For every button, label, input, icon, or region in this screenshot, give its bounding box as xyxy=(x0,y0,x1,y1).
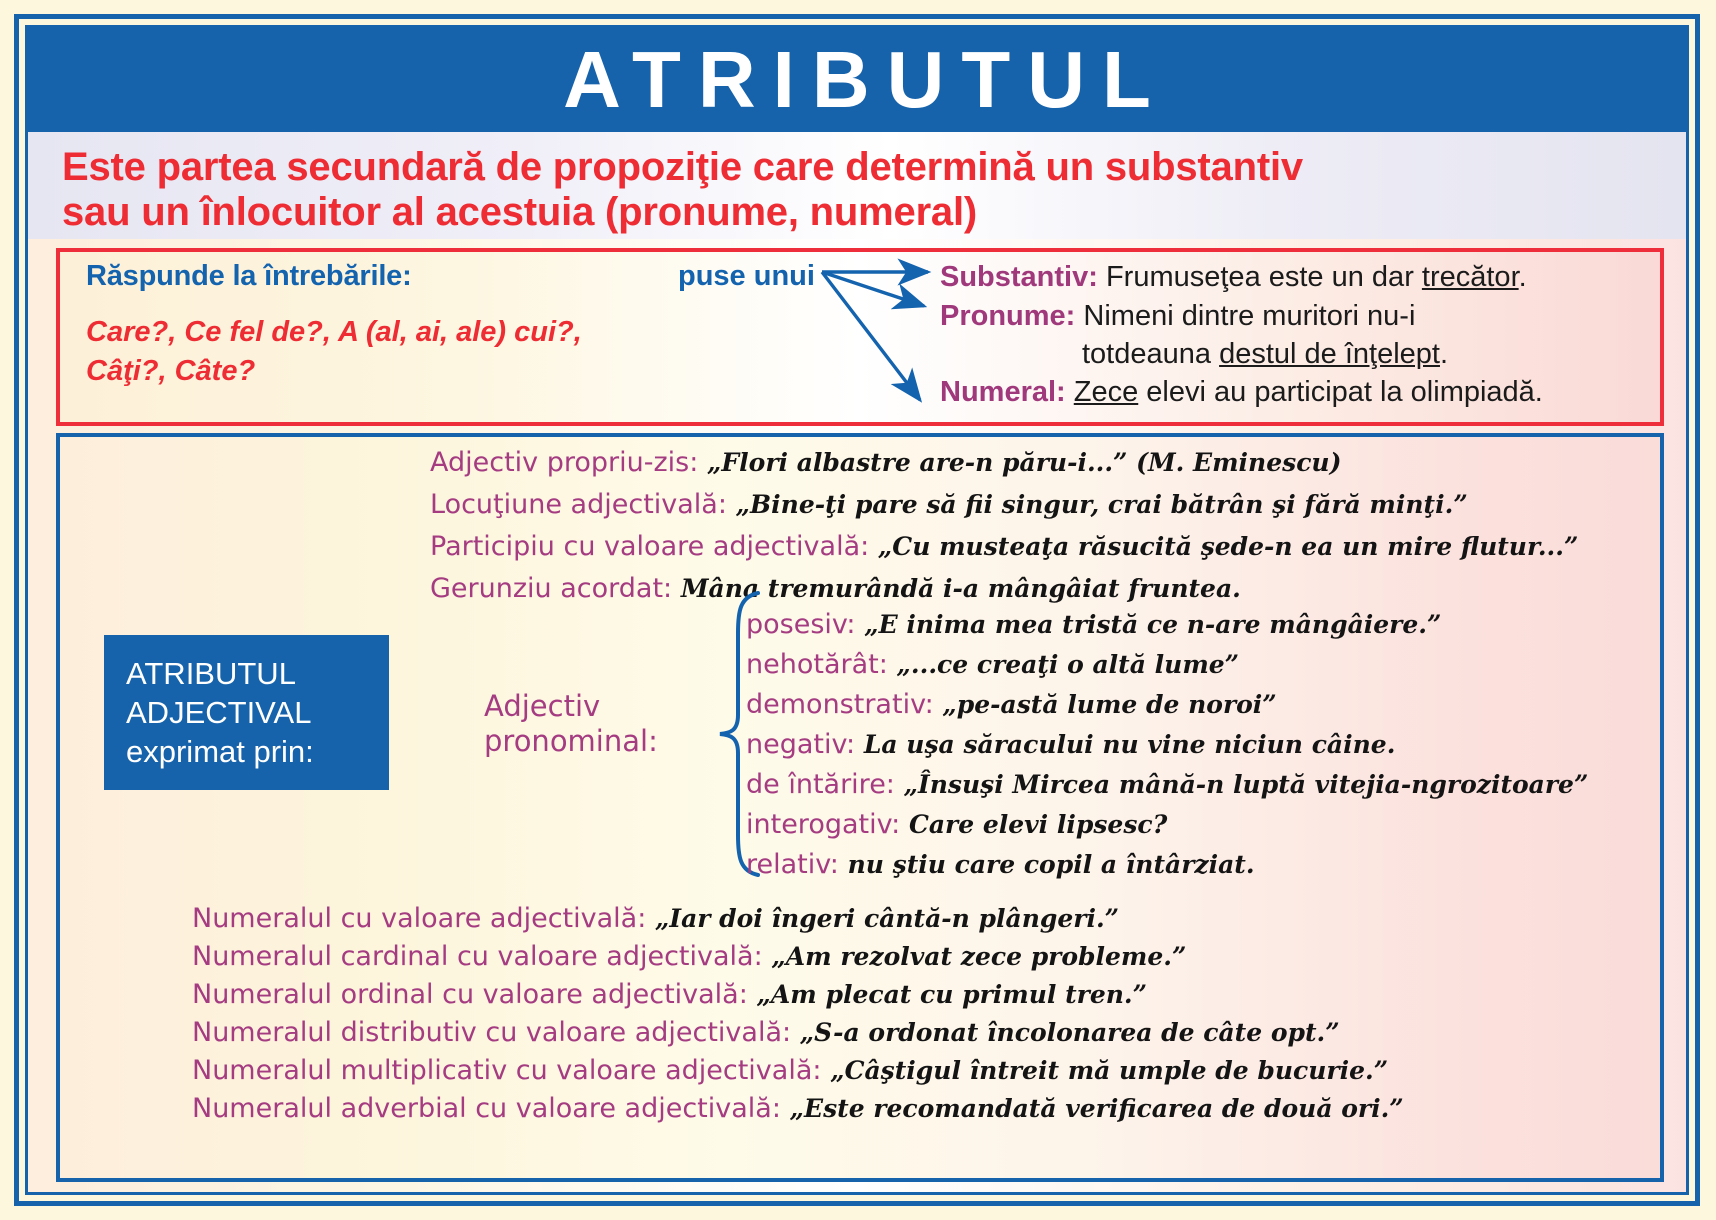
row-numeral-distributiv-ex-before: „S-a ordonat încolonarea xyxy=(791,1018,1161,1047)
questions-box: Răspunde la întrebările: Care?, Ce fel d… xyxy=(56,248,1664,426)
row-numeral-ex-underlined: doi xyxy=(719,904,763,933)
example-numeral-label: Numeral: xyxy=(940,376,1066,408)
row-adjectiv-propriu-zis-category: Adjectiv propriu-zis: xyxy=(430,447,698,478)
row-adjectiv-propriu-zis-ex-after: are-n păru-i...” (M. Eminescu) xyxy=(911,448,1342,477)
example-pronume-line2-underlined: destul de înţelept xyxy=(1219,338,1440,370)
row-numeral-adverbial-ex-before: „Este recomandată verificarea xyxy=(781,1094,1222,1123)
arrow-to-pronume xyxy=(822,272,924,306)
example-substantiv-before: Frumuseţea este un dar xyxy=(1098,261,1422,293)
example-pronume-label: Pronume: xyxy=(940,300,1075,332)
row-locutiune-adjectivala-ex-underlined: fără minţi. xyxy=(1304,490,1453,519)
row-de-intarire-ex-before: „ xyxy=(895,770,918,799)
row-negativ-category: negativ: xyxy=(746,729,855,760)
row-numeral-distributiv: Numeralul distributiv cu valoare adjecti… xyxy=(192,1017,1340,1048)
row-locutiune-adjectivala-ex-after: ” xyxy=(1453,490,1467,519)
row-locutiune-adjectivala-category: Locuţiune adjectivală: xyxy=(430,489,727,520)
row-gerunziu-ex-after: i-a mângâiat fruntea. xyxy=(934,574,1241,603)
example-substantiv-after: . xyxy=(1519,261,1527,293)
example-substantiv-underlined: trecător xyxy=(1422,261,1519,293)
row-numeral-adverbial-ex-after: .” xyxy=(1381,1094,1404,1123)
row-numeral-cardinal-ex-after: probleme.” xyxy=(1022,942,1186,971)
page-title: ATRIBUTUL xyxy=(546,40,1168,120)
questions-left-column: Răspunde la întrebările: Care?, Ce fel d… xyxy=(86,260,706,390)
questions-list: Care?, Ce fel de?, A (al, ai, ale) cui?,… xyxy=(86,313,706,390)
row-interogativ-ex-underlined: Care xyxy=(909,810,974,839)
row-demonstrativ-ex-after: lume de noroi” xyxy=(1059,690,1277,719)
row-posesiv-ex-underlined: mea xyxy=(995,610,1054,639)
row-nehotarat-ex-before: „...ce creaţi o xyxy=(888,650,1093,679)
row-negativ-ex-underlined: niciun xyxy=(1214,730,1303,759)
definition-line-2: sau un înlocuitor al acestuia (pronume, … xyxy=(62,190,1662,235)
row-numeral-multiplicativ-category: Numeralul multiplicativ cu valoare adjec… xyxy=(192,1055,821,1086)
key-box-line-2: ADJECTIVAL xyxy=(126,694,389,733)
row-demonstrativ-category: demonstrativ: xyxy=(746,689,934,720)
example-pronume-line2: totdeauna destul de înţelept. xyxy=(940,335,1650,373)
row-numeral-valoare-adjectivala: Numeralul cu valoare adjectivală: „Iar d… xyxy=(192,903,1119,934)
row-participiu-ex-before: „Cu musteaţa xyxy=(869,532,1078,561)
row-numeral-ex-before: „Iar xyxy=(646,904,719,933)
row-demonstrativ: demonstrativ: „pe-astă lume de noroi” xyxy=(746,689,1277,720)
row-numeral-cardinal: Numeralul cardinal cu valoare adjectival… xyxy=(192,941,1186,972)
row-nehotarat-category: nehotărât: xyxy=(746,649,888,680)
key-box-atributul-adjectival: ATRIBUTUL ADJECTIVAL exprimat prin: xyxy=(104,635,389,790)
adjectiv-pronominal-line-1: Adjectiv xyxy=(484,689,658,724)
row-gerunziu-ex-underlined: tremurândă xyxy=(768,574,934,603)
row-numeral-adverbial-category: Numeralul adverbial cu valoare adjectiva… xyxy=(192,1093,781,1124)
example-pronume: Pronume: Nimeni dintre muritori nu-i xyxy=(940,297,1650,335)
row-gerunziu-category: Gerunziu acordat: xyxy=(430,573,672,604)
row-de-intarire: de întărire: „Însuşi Mircea mână-n luptă… xyxy=(746,769,1588,800)
row-numeral-ex-after: îngeri cântă-n plângeri.” xyxy=(763,904,1119,933)
example-numeral-before xyxy=(1066,376,1074,408)
row-locutiune-adjectivala: Locuţiune adjectivală: „Bine-ţi pare să … xyxy=(430,489,1468,520)
definition-line-1: Este partea secundară de propoziţie care… xyxy=(62,145,1662,190)
row-numeral-distributiv-category: Numeralul distributiv cu valoare adjecti… xyxy=(192,1017,791,1048)
row-negativ-ex-after: câine. xyxy=(1303,730,1395,759)
row-participiu-category: Participiu cu valoare adjectivală: xyxy=(430,531,869,562)
puse-unui-label: puse unui xyxy=(678,260,815,293)
main-content-box: Adjectiv propriu-zis: „Flori albastre ar… xyxy=(56,433,1664,1182)
example-pronume-before: Nimeni dintre muritori nu-i xyxy=(1075,300,1415,332)
example-pronume-line2-after: . xyxy=(1440,338,1448,370)
example-substantiv-label: Substantiv: xyxy=(940,261,1098,293)
row-de-intarire-ex-after: Mircea mână-n luptă vitejia-ngrozitoare” xyxy=(1004,770,1589,799)
row-numeral-multiplicativ: Numeralul multiplicativ cu valoare adjec… xyxy=(192,1055,1388,1086)
poster-inner-frame: ATRIBUTUL Este partea secundară de propo… xyxy=(25,25,1689,1195)
row-interogativ-ex-after: elevi lipsesc? xyxy=(974,810,1167,839)
poster-frame: ATRIBUTUL Este partea secundară de propo… xyxy=(14,14,1700,1206)
key-box-line-3: exprimat prin: xyxy=(126,733,389,772)
row-numeral-adverbial-ex-underlined: de două ori xyxy=(1222,1094,1381,1123)
row-numeral-ordinal-ex-after: tren.” xyxy=(1056,980,1147,1009)
row-numeral-cardinal-category: Numeralul cardinal cu valoare adjectival… xyxy=(192,941,763,972)
row-participiu-ex-underlined: răsucită xyxy=(1078,532,1192,561)
example-numeral: Numeral: Zece elevi au participat la oli… xyxy=(940,373,1650,411)
row-adjectiv-propriu-zis-ex-before: „Flori xyxy=(698,448,796,477)
key-box-line-1: ATRIBUTUL xyxy=(126,655,389,694)
questions-list-line-2: Câţi?, Câte? xyxy=(86,352,706,391)
row-numeral-ordinal-ex-underlined: primul xyxy=(962,980,1056,1009)
row-locutiune-adjectivala-ex-before: „Bine-ţi pare să fii singur, crai bătrân… xyxy=(727,490,1304,519)
row-numeral-distributiv-ex-underlined: de câte opt xyxy=(1161,1018,1316,1047)
questions-examples-column: Substantiv: Frumuseţea este un dar trecă… xyxy=(940,258,1650,411)
row-relativ-ex-underlined: care xyxy=(955,850,1016,879)
row-interogativ: interogativ: Care elevi lipsesc? xyxy=(746,809,1167,840)
row-numeral-cardinal-ex-underlined: zece xyxy=(961,942,1022,971)
row-demonstrativ-ex-underlined: astă xyxy=(1001,690,1059,719)
row-numeral-multiplicativ-ex-underlined: întreit xyxy=(970,1056,1059,1085)
example-pronume-line2-before: totdeauna xyxy=(1082,338,1219,370)
row-relativ: relativ: nu ştiu care copil a întârziat. xyxy=(746,849,1255,880)
row-relativ-category: relativ: xyxy=(746,849,839,880)
row-de-intarire-ex-underlined: Însuşi xyxy=(918,770,1004,799)
questions-heading: Răspunde la întrebările: xyxy=(86,260,706,293)
definition-block: Este partea secundară de propoziţie care… xyxy=(28,132,1686,239)
row-posesiv-ex-after: tristă ce n-are mângâiere.” xyxy=(1053,610,1441,639)
example-numeral-after: elevi au participat la olimpiadă. xyxy=(1138,376,1543,408)
row-numeral-adverbial: Numeralul adverbial cu valoare adjectiva… xyxy=(192,1093,1404,1124)
arrows-group xyxy=(820,252,950,422)
row-numeral-category: Numeralul cu valoare adjectivală: xyxy=(192,903,646,934)
row-posesiv-ex-before: „E inima xyxy=(856,610,995,639)
row-numeral-cardinal-ex-before: „Am rezolvat xyxy=(763,942,961,971)
row-interogativ-category: interogativ: xyxy=(746,809,900,840)
adjectiv-pronominal-line-2: pronominal: xyxy=(484,724,658,759)
questions-list-line-1: Care?, Ce fel de?, A (al, ai, ale) cui?, xyxy=(86,313,706,352)
row-posesiv-category: posesiv: xyxy=(746,609,856,640)
row-numeral-ordinal-category: Numeralul ordinal cu valoare adjectivală… xyxy=(192,979,748,1010)
row-de-intarire-category: de întărire: xyxy=(746,769,895,800)
row-nehotarat: nehotărât: „...ce creaţi o altă lume” xyxy=(746,649,1239,680)
row-gerunziu-acordat: Gerunziu acordat: Mâna tremurândă i-a mâ… xyxy=(430,573,1241,604)
row-adjectiv-propriu-zis-ex-underlined: albastre xyxy=(797,448,911,477)
row-negativ-ex-before: La uşa săracului nu vine xyxy=(855,730,1214,759)
row-participiu-valoare-adjectivala: Participiu cu valoare adjectivală: „Cu m… xyxy=(430,531,1578,562)
row-relativ-ex-after: copil a întârziat. xyxy=(1015,850,1254,879)
row-participiu-ex-after: şede-n ea un mire flutur...” xyxy=(1192,532,1578,561)
row-adjectiv-propriu-zis: Adjectiv propriu-zis: „Flori albastre ar… xyxy=(430,447,1341,478)
row-posesiv: posesiv: „E inima mea tristă ce n-are mâ… xyxy=(746,609,1441,640)
row-nehotarat-ex-after: lume” xyxy=(1146,650,1239,679)
row-nehotarat-ex-underlined: altă xyxy=(1092,650,1145,679)
row-numeral-multiplicativ-ex-after: mă umple de bucurie.” xyxy=(1059,1056,1388,1085)
row-interogativ-ex-before xyxy=(900,810,909,839)
row-negativ: negativ: La uşa săracului nu vine niciun… xyxy=(746,729,1395,760)
row-numeral-multiplicativ-ex-before: „Câştigul xyxy=(821,1056,969,1085)
row-numeral-ordinal-ex-before: „Am plecat cu xyxy=(748,980,962,1009)
arrow-to-numeral xyxy=(822,272,920,400)
title-bar: ATRIBUTUL xyxy=(28,28,1686,132)
row-relativ-ex-before: nu ştiu xyxy=(839,850,955,879)
row-numeral-distributiv-ex-after: .” xyxy=(1317,1018,1340,1047)
example-numeral-underlined: Zece xyxy=(1074,376,1138,408)
row-numeral-ordinal: Numeralul ordinal cu valoare adjectivală… xyxy=(192,979,1147,1010)
row-demonstrativ-ex-before: „pe- xyxy=(934,690,1001,719)
adjectiv-pronominal-label: Adjectiv pronominal: xyxy=(484,689,658,759)
example-substantiv: Substantiv: Frumuseţea este un dar trecă… xyxy=(940,258,1650,296)
